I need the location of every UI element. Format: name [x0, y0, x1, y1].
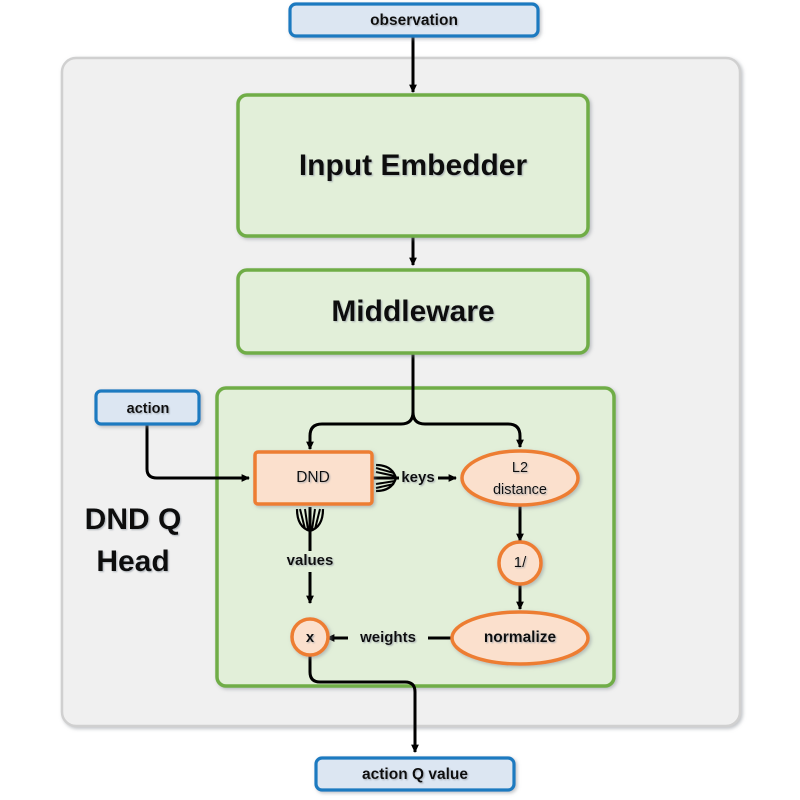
dnd-q-head-title-line1: DND Q	[85, 503, 182, 536]
diagram-canvas: observation Input Embedder Middleware ac…	[0, 0, 800, 800]
edge-label-values: values	[277, 551, 344, 572]
multiply-label: x	[306, 629, 315, 646]
node-observation[interactable]: observation	[290, 4, 538, 36]
node-dnd[interactable]: DND	[255, 452, 372, 504]
action-q-value-label: action Q value	[362, 766, 468, 783]
dnd-q-head-title-line2: Head	[96, 545, 169, 578]
reciprocal-label: 1/	[514, 554, 527, 571]
observation-label: observation	[370, 12, 458, 29]
node-middleware[interactable]: Middleware	[238, 270, 588, 353]
normalize-label: normalize	[484, 629, 557, 646]
node-action[interactable]: action	[96, 391, 199, 424]
keys-label: keys	[401, 469, 434, 486]
l2-distance-label-line2: distance	[493, 482, 547, 498]
node-reciprocal[interactable]: 1/	[499, 542, 541, 584]
edge-label-weights: weights	[348, 628, 428, 649]
action-label: action	[127, 401, 170, 417]
weights-label: weights	[359, 629, 416, 646]
node-l2-distance[interactable]: L2 distance	[462, 451, 578, 505]
node-input-embedder[interactable]: Input Embedder	[238, 95, 588, 236]
middleware-label: Middleware	[331, 295, 494, 328]
dnd-q-head-architecture-diagram: observation Input Embedder Middleware ac…	[0, 0, 800, 800]
node-normalize[interactable]: normalize	[452, 612, 588, 664]
l2-distance-label-line1: L2	[512, 460, 528, 476]
node-action-q-value[interactable]: action Q value	[316, 758, 514, 790]
node-multiply[interactable]: x	[292, 619, 328, 655]
edge-label-keys: keys	[399, 468, 438, 488]
input-embedder-label: Input Embedder	[299, 149, 528, 182]
dnd-label: DND	[296, 469, 330, 486]
values-label: values	[287, 552, 334, 569]
